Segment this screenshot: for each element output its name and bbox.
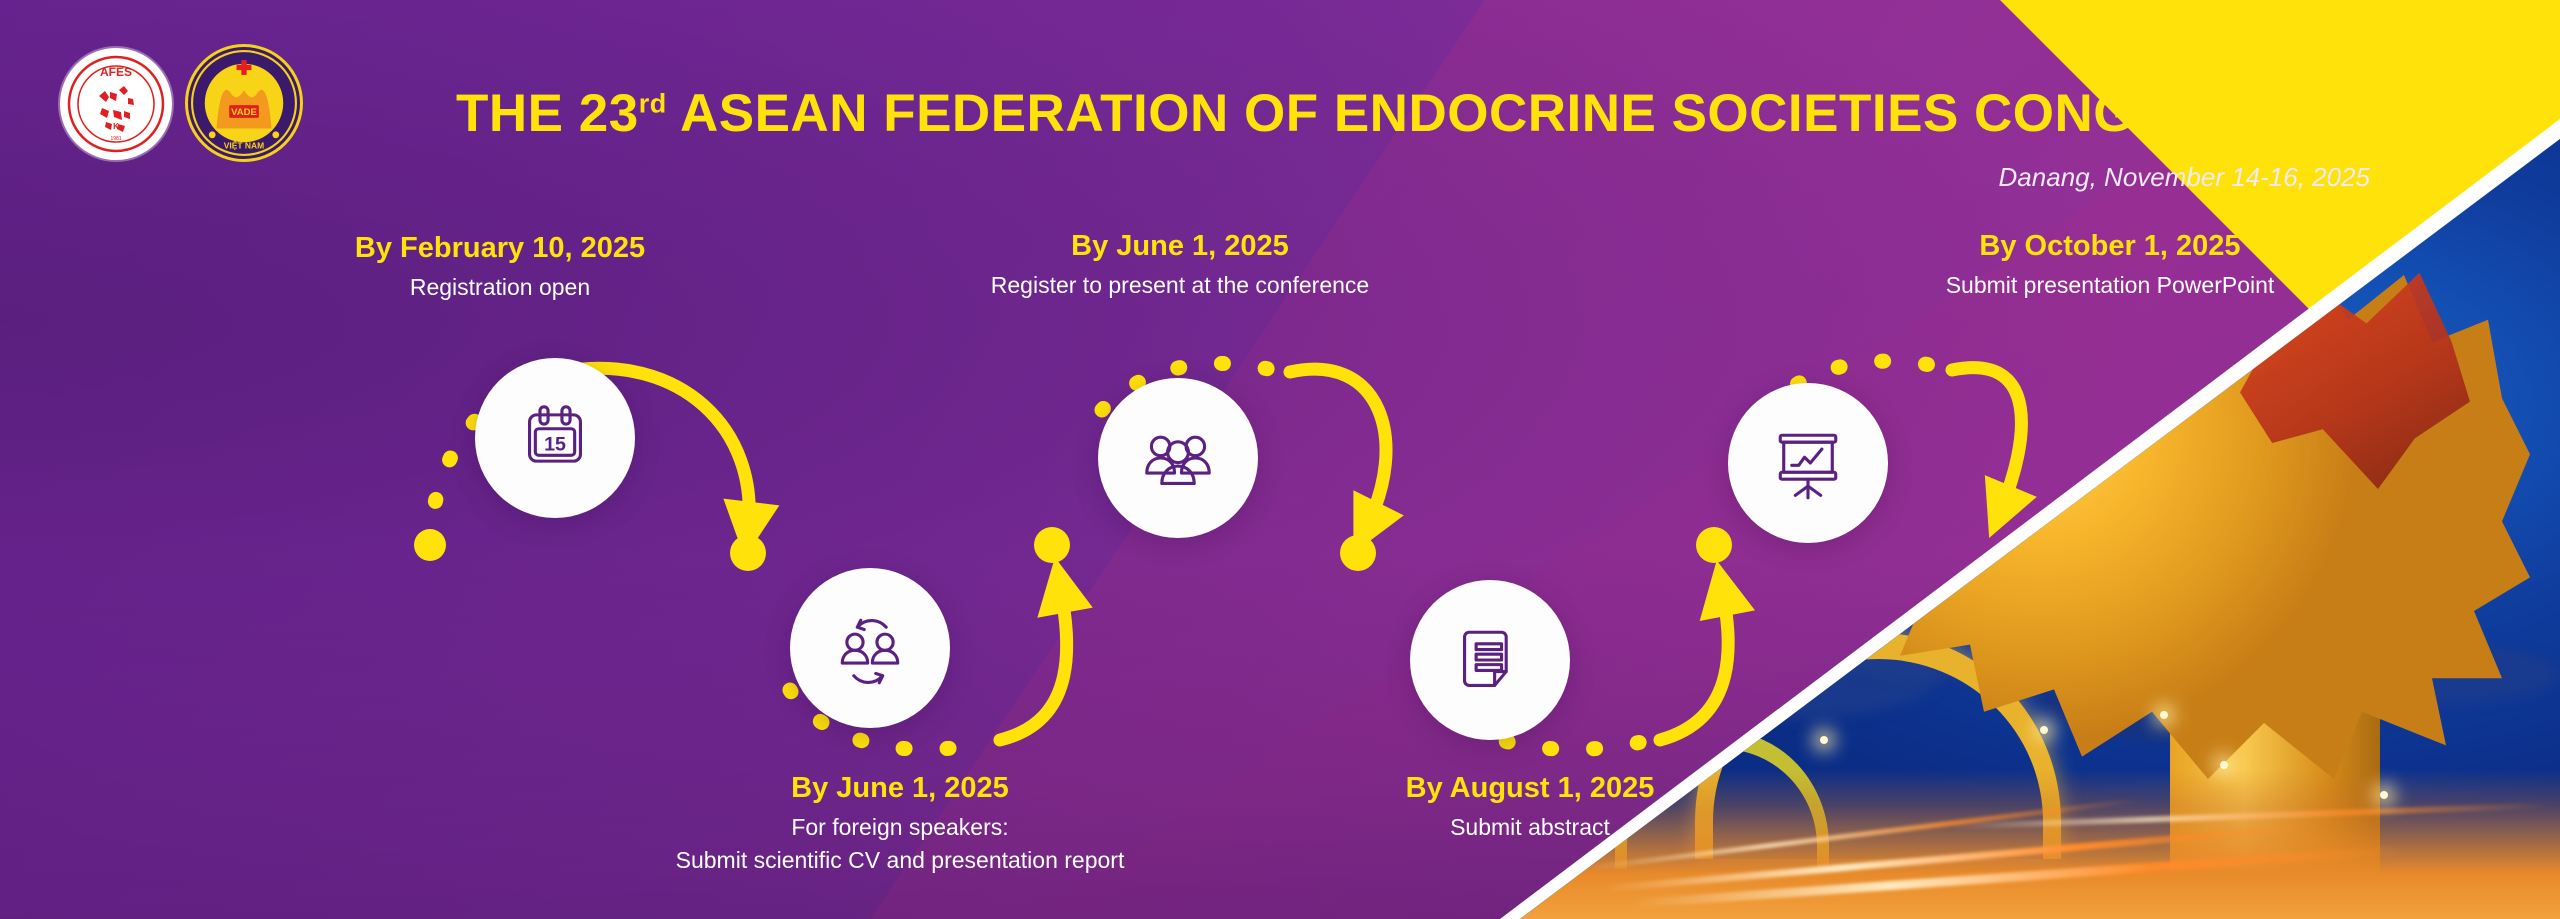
title-rest: ASEAN FEDERATION OF ENDOCRINE SOCIETIES … (667, 84, 2282, 143)
milestone-icon-circle-2[interactable] (790, 568, 950, 728)
milestone-date-4: By August 1, 2025 (1220, 770, 1840, 806)
street-light (1820, 736, 1828, 744)
milestone-icon-circle-1[interactable]: 15 (475, 358, 635, 518)
svg-text:VADE: VADE (231, 107, 257, 118)
milestone-label-2: By June 1, 2025 For foreign speakers: Su… (550, 770, 1250, 876)
svg-text:15: 15 (544, 434, 566, 456)
milestone-label-1: By February 10, 2025 Registration open (300, 230, 700, 303)
svg-text:VIỆT NAM: VIỆT NAM (224, 140, 264, 151)
milestone-date-2: By June 1, 2025 (550, 770, 1250, 806)
milestone-date-3: By June 1, 2025 (830, 228, 1530, 264)
milestone-desc-4: Submit abstract (1220, 812, 1840, 843)
milestone-icon-circle-3[interactable] (1098, 378, 1258, 538)
svg-text:K: K (113, 122, 119, 131)
milestone-date-1: By February 10, 2025 (300, 230, 700, 266)
street-light (2160, 711, 2168, 719)
street-light (2380, 791, 2388, 799)
conference-timeline-banner: AFES 1981 K VADE VIỆT NAM THE 23rd ASEAN… (0, 0, 2560, 919)
afes-logo: AFES 1981 K (60, 48, 172, 160)
street-light (2040, 726, 2048, 734)
title-ordinal-suffix: rd (639, 88, 667, 118)
svg-text:1981: 1981 (110, 136, 121, 142)
people-group-icon (1141, 421, 1215, 495)
milestone-desc-2-line1: For foreign speakers: (550, 812, 1250, 843)
page-title: THE 23rd ASEAN FEDERATION OF ENDOCRINE S… (456, 86, 2356, 142)
milestone-date-5: By October 1, 2025 (1810, 228, 2410, 264)
calendar-icon: 15 (518, 401, 592, 475)
people-exchange-icon (833, 611, 907, 685)
milestone-desc-1: Registration open (300, 272, 700, 303)
milestone-label-3: By June 1, 2025 Register to present at t… (830, 228, 1530, 301)
presentation-chart-icon (1771, 426, 1845, 500)
title-main: THE 23 (456, 84, 639, 143)
event-location-date: Danang, November 14-16, 2025 (1999, 162, 2370, 193)
vade-logo: VADE VIỆT NAM (185, 44, 303, 162)
milestone-label-5: By October 1, 2025 Submit presentation P… (1810, 228, 2410, 301)
milestone-icon-circle-4[interactable] (1410, 580, 1570, 740)
svg-text:AFES: AFES (100, 65, 132, 79)
milestone-icon-circle-5[interactable] (1728, 383, 1888, 543)
milestone-desc-3: Register to present at the conference (830, 270, 1530, 301)
street-light (2220, 761, 2228, 769)
milestone-desc-5: Submit presentation PowerPoint (1810, 270, 2410, 301)
document-icon (1453, 623, 1527, 697)
milestone-desc-2-line2: Submit scientific CV and presentation re… (550, 845, 1250, 876)
milestone-label-4: By August 1, 2025 Submit abstract (1220, 770, 1840, 843)
